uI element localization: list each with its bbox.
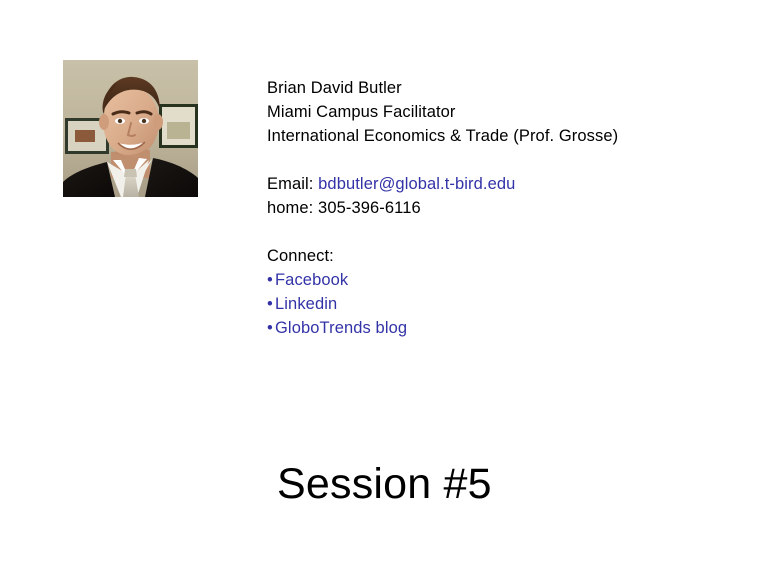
bullet-icon: • xyxy=(267,268,275,292)
home-label: home: xyxy=(267,199,313,217)
list-item-globotrends-blog[interactable]: •GloboTrends blog xyxy=(267,316,687,340)
contact-course: International Economics & Trade (Prof. G… xyxy=(267,124,687,148)
email-label: Email: xyxy=(267,175,313,193)
home-value: 305-396-6116 xyxy=(318,199,421,217)
email-line: Email: bdbutler@global.t-bird.edu xyxy=(267,172,687,196)
facebook-link-label[interactable]: Facebook xyxy=(275,271,348,289)
home-phone-line: home: 305-396-6116 xyxy=(267,196,687,220)
slide-canvas: Brian David Butler Miami Campus Facilita… xyxy=(0,0,768,576)
list-item-facebook[interactable]: •Facebook xyxy=(267,268,687,292)
spacer-after-phone xyxy=(267,220,687,244)
globotrends-link-label[interactable]: GloboTrends blog xyxy=(275,319,407,337)
portrait-photo xyxy=(63,60,198,197)
linkedin-link-label[interactable]: Linkedin xyxy=(275,295,337,313)
contact-role: Miami Campus Facilitator xyxy=(267,100,687,124)
slide-title: Session #5 xyxy=(277,458,492,510)
portrait-photo-graphic xyxy=(63,60,198,197)
email-link[interactable]: bdbutler@global.t-bird.edu xyxy=(318,175,515,193)
connect-label: Connect: xyxy=(267,244,687,268)
contact-info-block: Brian David Butler Miami Campus Facilita… xyxy=(267,76,687,340)
list-item-linkedin[interactable]: •Linkedin xyxy=(267,292,687,316)
bullet-icon: • xyxy=(267,292,275,316)
bullet-icon: • xyxy=(267,316,275,340)
spacer-after-course xyxy=(267,148,687,172)
contact-name: Brian David Butler xyxy=(267,76,687,100)
